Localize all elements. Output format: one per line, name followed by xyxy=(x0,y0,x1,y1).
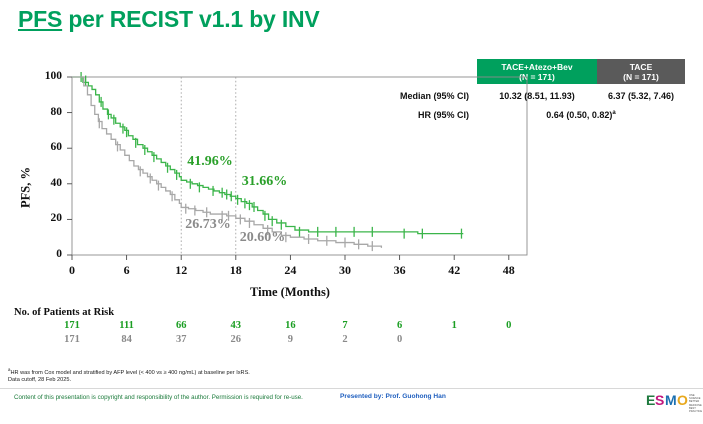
esmo-logo-tagline: ONE SCIENCE BETTER MEDICINE BEST PRACTIC… xyxy=(689,394,703,413)
risk-table-cell: 0 xyxy=(489,320,529,331)
page-title-rest: per RECIST v1.1 by INV xyxy=(62,6,319,32)
curve-annotation: 31.66% xyxy=(242,174,288,190)
risk-table-cell: 0 xyxy=(380,334,420,345)
esmo-logo: E S M O ONE SCIENCE BETTER MEDICINE BEST… xyxy=(646,391,696,413)
stats-row-median-arm2: 6.37 (5.32, 7.46) xyxy=(597,91,685,101)
y-axis-tick: 20 xyxy=(22,212,62,224)
x-axis-tick: 6 xyxy=(107,263,147,278)
risk-table-cell: 171 xyxy=(52,334,92,345)
page-title: PFS per RECIST v1.1 by INV xyxy=(18,6,320,33)
esmo-logo-letter-m: M xyxy=(665,393,677,407)
x-axis-tick: 24 xyxy=(270,263,310,278)
copyright-text: Content of this presentation is copyrigh… xyxy=(14,394,303,401)
footnote-text-1: HR was from Cox model and stratified by … xyxy=(10,370,249,376)
slide-root: PFS per RECIST v1.1 by INV TACE+Atezo+Be… xyxy=(0,0,703,423)
risk-table-label: No. of Patients at Risk xyxy=(14,307,114,318)
risk-table-cell: 1 xyxy=(434,320,474,331)
x-axis-tick: 30 xyxy=(325,263,365,278)
x-axis-tick: 42 xyxy=(434,263,474,278)
esmo-logo-letter-o: O xyxy=(677,393,688,407)
page-title-underlined: PFS xyxy=(18,6,62,32)
x-axis-tick: 18 xyxy=(216,263,256,278)
esmo-logo-letter-e: E xyxy=(646,393,655,407)
y-axis-tick: 0 xyxy=(22,248,62,260)
x-axis-label: Time (Months) xyxy=(160,285,420,300)
x-axis-tick: 36 xyxy=(380,263,420,278)
risk-table-cell: 16 xyxy=(270,320,310,331)
risk-table-cell: 84 xyxy=(107,334,147,345)
risk-table-cell: 7 xyxy=(325,320,365,331)
presenter-text: Presented by: Prof. Guohong Han xyxy=(340,393,446,400)
risk-table-cell: 43 xyxy=(216,320,256,331)
curve-annotation: 26.73% xyxy=(185,217,231,233)
y-axis-tick: 100 xyxy=(22,70,62,82)
stats-header-arm2-n: (N = 171) xyxy=(623,72,659,82)
risk-table-cell: 37 xyxy=(161,334,201,345)
footnote-line-2: Data cutoff, 28 Feb 2025. xyxy=(8,377,250,385)
km-chart: PFS, % Time (Months) 0204060801000612182… xyxy=(0,60,600,305)
curve-annotation: 20.60% xyxy=(240,230,286,246)
x-axis-tick: 12 xyxy=(161,263,201,278)
stats-row-hr-superscript: a xyxy=(612,110,615,116)
stats-header-arm2-name: TACE xyxy=(630,62,653,72)
risk-table-cell: 2 xyxy=(325,334,365,345)
y-axis-tick: 60 xyxy=(22,141,62,153)
x-axis-tick: 48 xyxy=(489,263,529,278)
risk-table-cell: 111 xyxy=(107,320,147,331)
footnotes: aHR was from Cox model and stratified by… xyxy=(8,366,250,385)
esmo-logo-letter-s: S xyxy=(655,393,664,407)
y-axis-tick: 40 xyxy=(22,177,62,189)
curve-annotation: 41.96% xyxy=(187,154,233,170)
stats-header-arm2: TACE (N = 171) xyxy=(597,59,685,84)
x-axis-tick: 0 xyxy=(52,263,92,278)
y-axis-tick: 80 xyxy=(22,106,62,118)
risk-table-cell: 26 xyxy=(216,334,256,345)
footnote-line-1: aHR was from Cox model and stratified by… xyxy=(8,366,250,377)
risk-table-cell: 6 xyxy=(380,320,420,331)
risk-table-cell: 66 xyxy=(161,320,201,331)
risk-table-cell: 171 xyxy=(52,320,92,331)
risk-table-cell: 9 xyxy=(270,334,310,345)
